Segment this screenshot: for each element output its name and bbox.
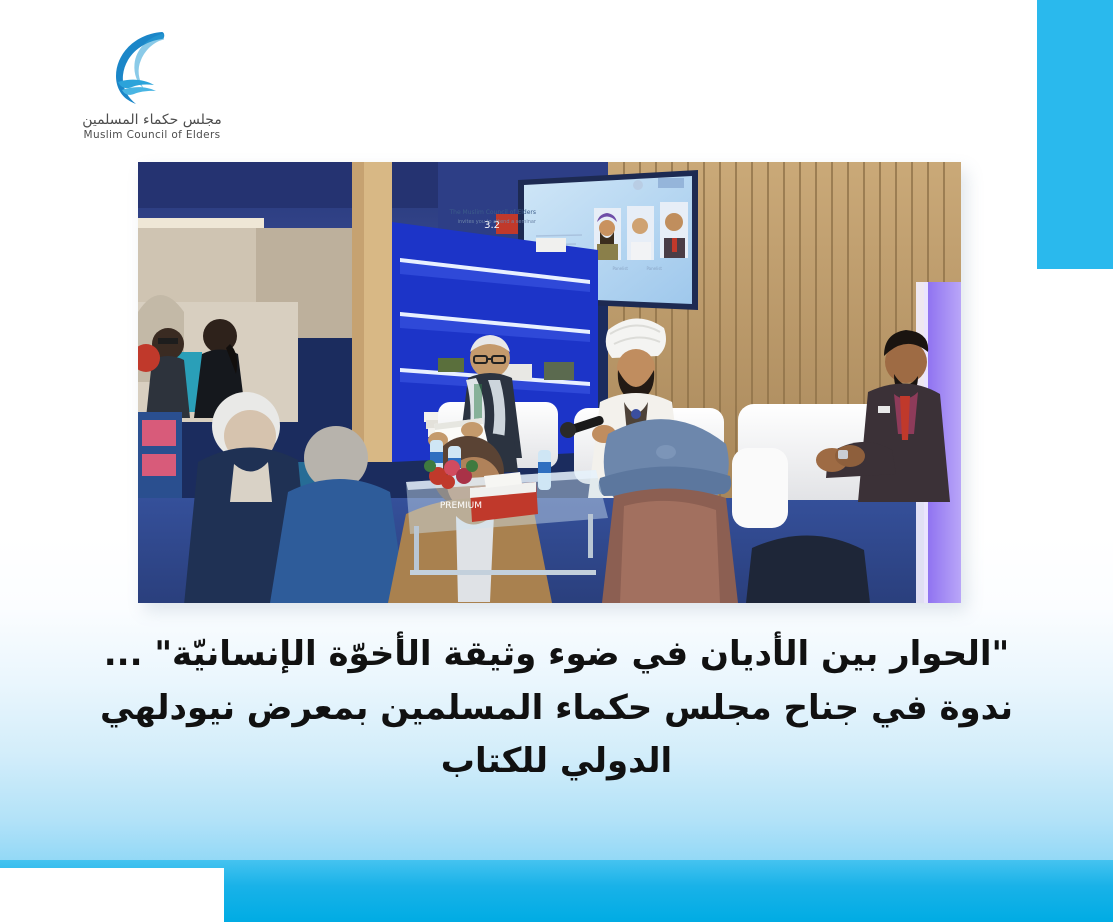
svg-text:Panelist: Panelist (612, 266, 628, 271)
event-photo-canvas: Muslim C 3.2 5 (138, 162, 961, 603)
headline-line-3: الدولي للكتاب (78, 735, 1035, 789)
svg-text:The Muslim Council of Elders: The Muslim Council of Elders (448, 209, 536, 216)
brand-logo: مجلس حكماء المسلمين Muslim Council of El… (62, 28, 242, 148)
social-card: مجلس حكماء المسلمين Muslim Council of El… (0, 0, 1113, 922)
svg-text:Panelist: Panelist (646, 266, 662, 271)
event-photo-illustration: Muslim C 3.2 5 (138, 162, 961, 603)
headline: "الحوار بين الأديان في ضوء وثيقة الأخوّة… (0, 628, 1113, 789)
event-photo: Muslim C 3.2 5 (138, 162, 961, 603)
crescent-moon-dove-icon (102, 28, 202, 108)
svg-text:invites you to attend a semina: invites you to attend a seminar (458, 219, 537, 225)
brand-name-english: Muslim Council of Elders (62, 129, 242, 143)
corner-accent-bar-top-right (1037, 0, 1113, 269)
bottom-left-notch (0, 868, 224, 922)
svg-text:PREMIUM: PREMIUM (440, 501, 482, 511)
headline-line-2: ندوة في جناح مجلس حكماء المسلمين بمعرض ن… (78, 682, 1035, 736)
headline-line-1: "الحوار بين الأديان في ضوء وثيقة الأخوّة… (78, 628, 1035, 682)
brand-name-arabic: مجلس حكماء المسلمين (62, 112, 242, 128)
